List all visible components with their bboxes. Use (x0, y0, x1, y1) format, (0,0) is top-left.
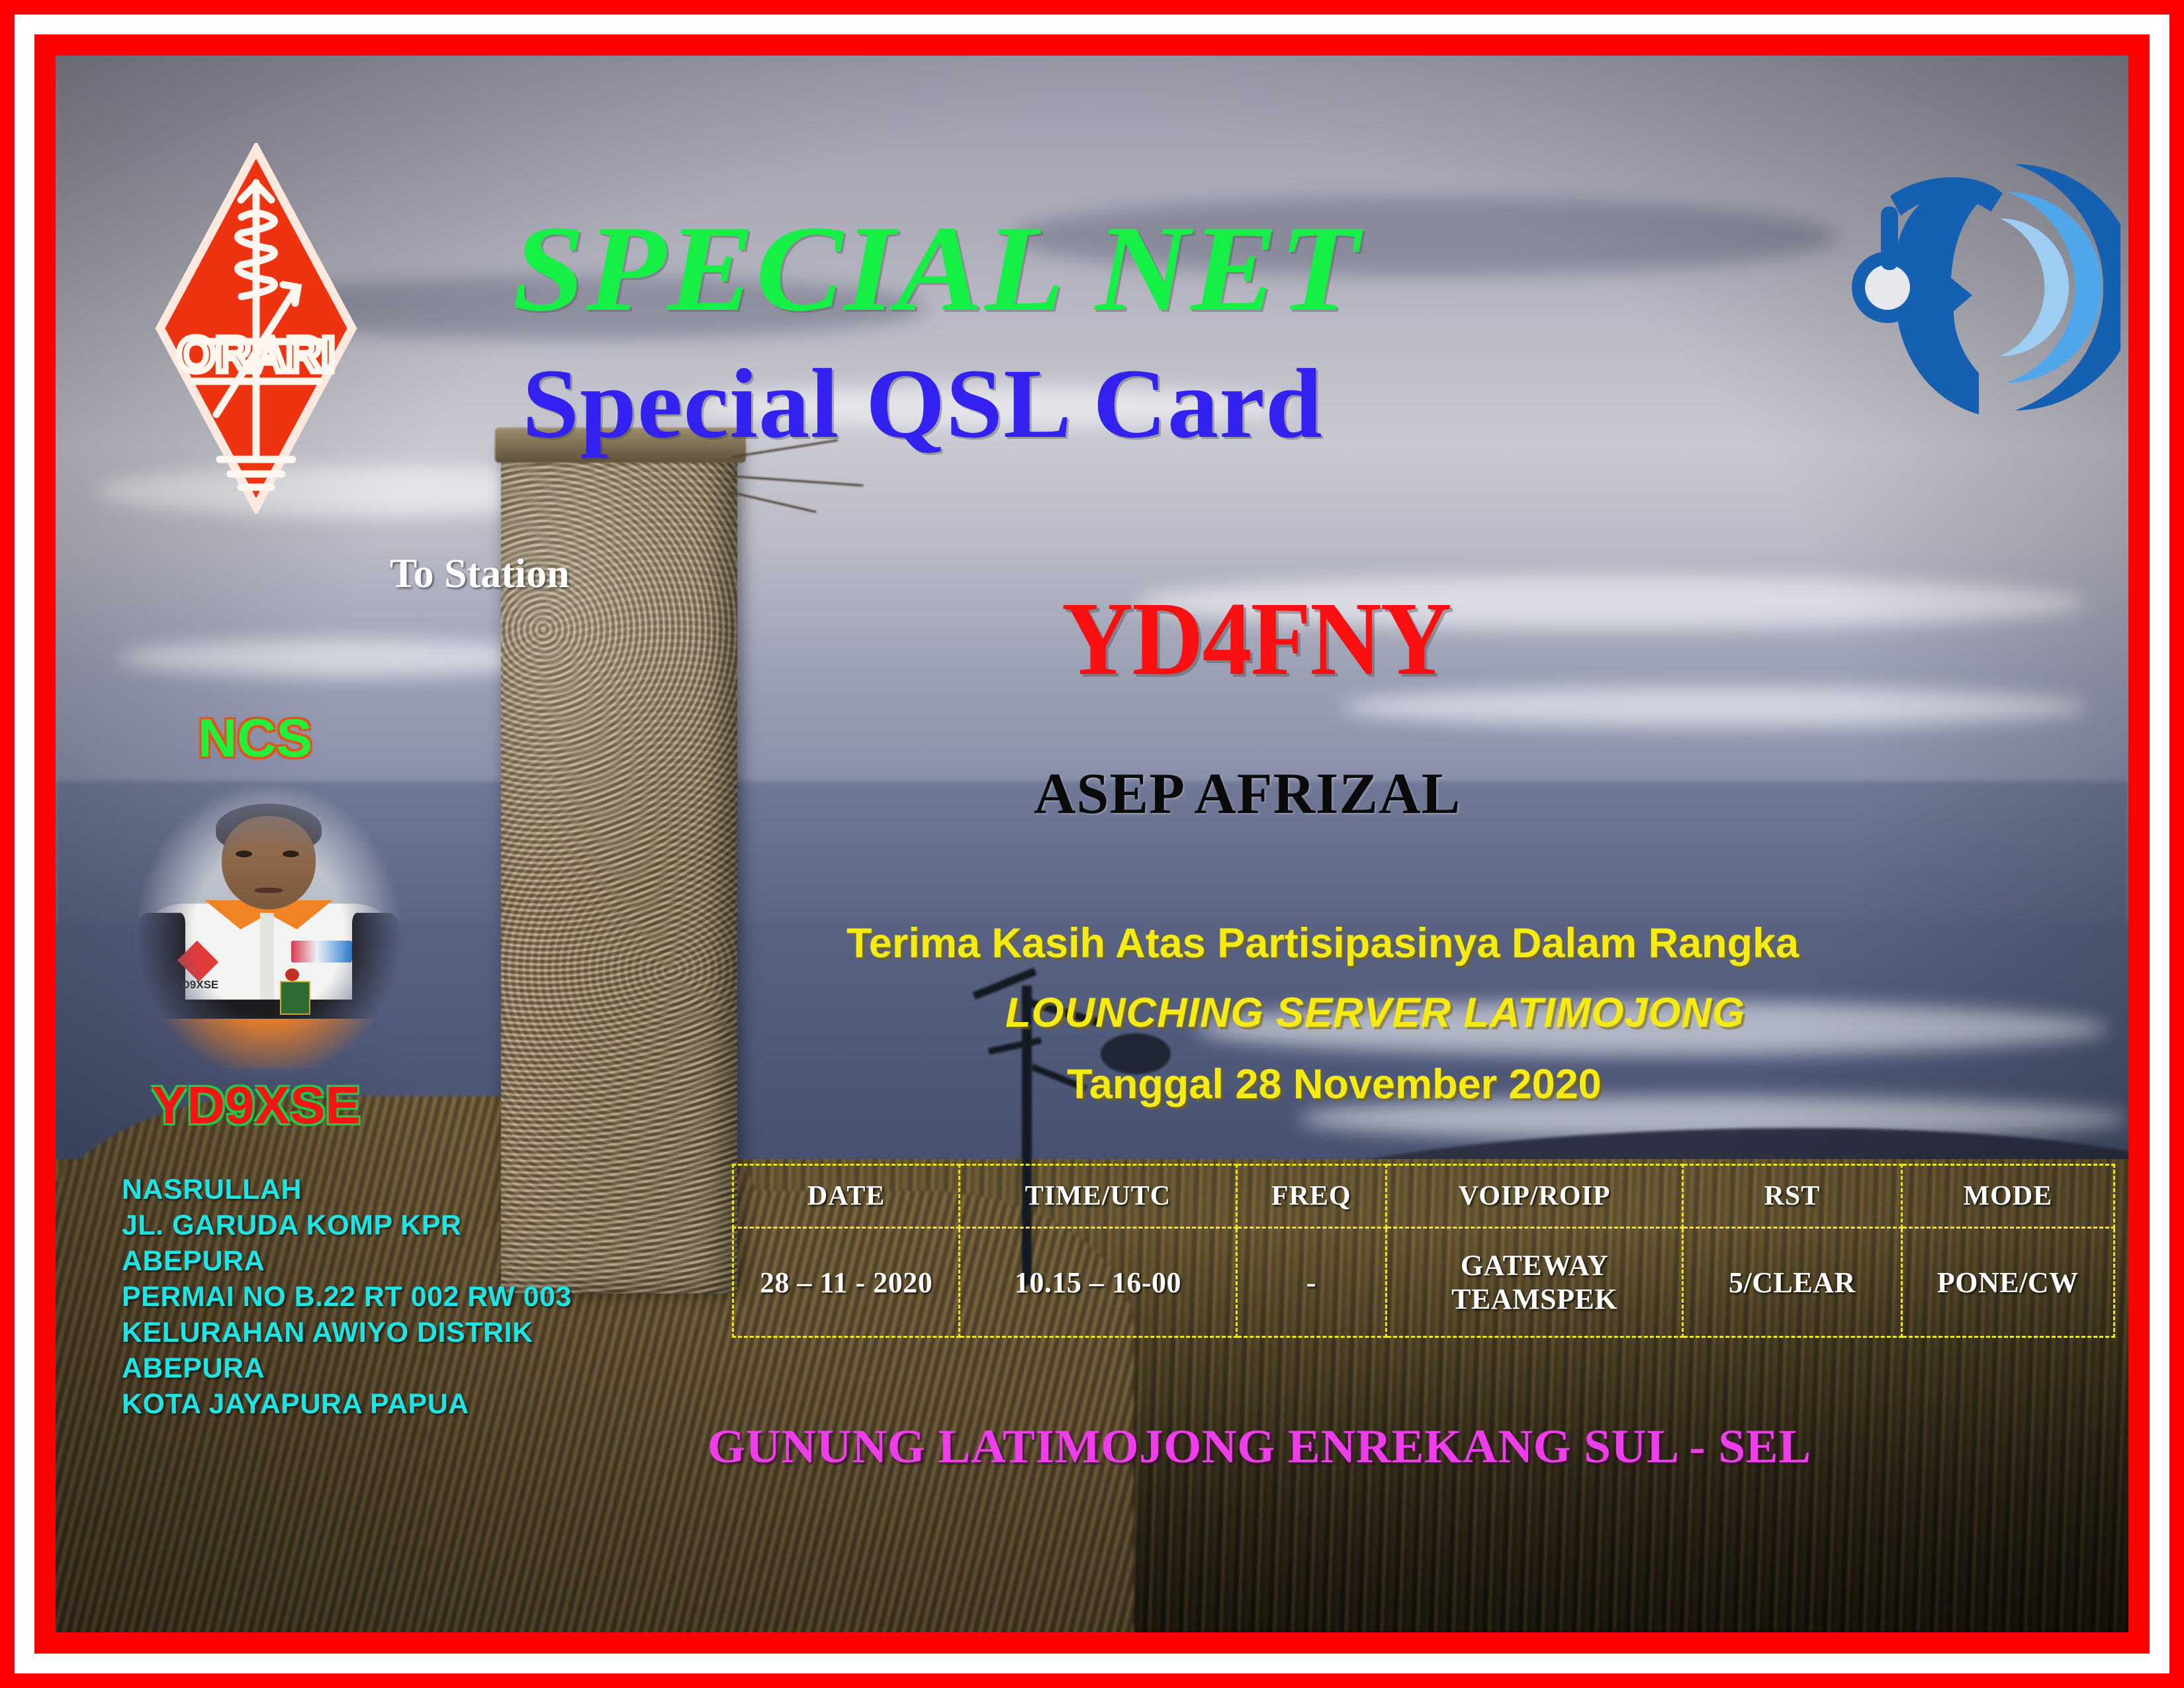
portrait-orange-sash (158, 1019, 380, 1068)
column-header-rst: RST (1683, 1165, 1901, 1228)
page-title: SPECIAL NET (512, 198, 1360, 340)
page-subtitle: Special QSL Card (522, 347, 1323, 461)
column-header-mode: MODE (1901, 1165, 2114, 1228)
cell-mode: PONE/CW (1901, 1228, 2114, 1337)
portrait-placket (260, 913, 274, 1006)
card-photo-area: ORARI SPECIAL NET Special QSL Card To St… (56, 56, 2128, 1632)
cell-voip-line2: TEAMSPEK (1388, 1282, 1681, 1316)
headset-profile-logo (1849, 155, 2120, 420)
cell-voip: GATEWAY TEAMSPEK (1387, 1228, 1683, 1337)
address-line: ABEPURA (122, 1243, 572, 1279)
to-station-label: To Station (390, 551, 570, 598)
address-line: JL. GARUDA KOMP KPR (122, 1207, 572, 1243)
address-line: PERMAI NO B.22 RT 002 RW 003 (122, 1279, 572, 1315)
address-line: ABEPURA (122, 1350, 572, 1386)
column-header-date: DATE (733, 1165, 960, 1228)
column-header-time: TIME/UTC (960, 1165, 1236, 1228)
qsl-card: ORARI SPECIAL NET Special QSL Card To St… (0, 0, 2184, 1688)
portrait-eye-left (236, 851, 252, 857)
sender-address-block: NASRULLAH JL. GARUDA KOMP KPR ABEPURA PE… (122, 1172, 572, 1422)
ncs-operator-photo: YD9XSE (130, 776, 408, 1087)
address-line: NASRULLAH (122, 1172, 572, 1207)
cell-date: 28 – 11 - 2020 (733, 1228, 960, 1337)
portrait-face (222, 816, 316, 910)
operator-name: ASEP AFRIZAL (1034, 761, 1461, 827)
table-row: 28 – 11 - 2020 10.15 – 16-00 - GATEWAY T… (733, 1228, 2115, 1337)
qso-details-table: DATE TIME/UTC FREQ VOIP/ROIP RST MODE 28… (732, 1164, 2115, 1338)
thanks-line-3: Tanggal 28 November 2020 (1067, 1060, 1602, 1108)
ncs-callsign: YD9XSE (152, 1075, 361, 1136)
orari-logo-text: ORARI (177, 327, 335, 382)
table-header-row: DATE TIME/UTC FREQ VOIP/ROIP RST MODE (733, 1165, 2115, 1228)
portrait-mouth (255, 888, 283, 893)
portrait-uniform-callsign: YD9XSE (174, 978, 218, 992)
cell-rst: 5/CLEAR (1683, 1228, 1901, 1337)
thanks-line-1: Terima Kasih Atas Partisipasinya Dalam R… (846, 919, 1799, 967)
cell-freq: - (1236, 1228, 1386, 1337)
column-header-freq: FREQ (1236, 1165, 1386, 1228)
address-line: KELURAHAN AWIYO DISTRIK (122, 1315, 572, 1350)
column-header-voip: VOIP/ROIP (1387, 1165, 1683, 1228)
portrait-black-band (152, 1000, 386, 1018)
ncs-label: NCS (198, 708, 312, 770)
portrait-chest-logo (291, 941, 352, 962)
cell-voip-line1: GATEWAY (1388, 1248, 1681, 1282)
address-line: KOTA JAYAPURA PAPUA (122, 1386, 572, 1422)
location-text: GUNUNG LATIMOJONG ENREKANG SUL - SEL (707, 1419, 1811, 1474)
portrait-id-badge (280, 981, 310, 1015)
cell-time: 10.15 – 16-00 (960, 1228, 1236, 1337)
orari-logo: ORARI (154, 143, 359, 514)
thanks-line-2: LOUNCHING SERVER LATIMOJONG (1005, 989, 1745, 1037)
recipient-callsign: YD4FNY (1062, 579, 1451, 699)
